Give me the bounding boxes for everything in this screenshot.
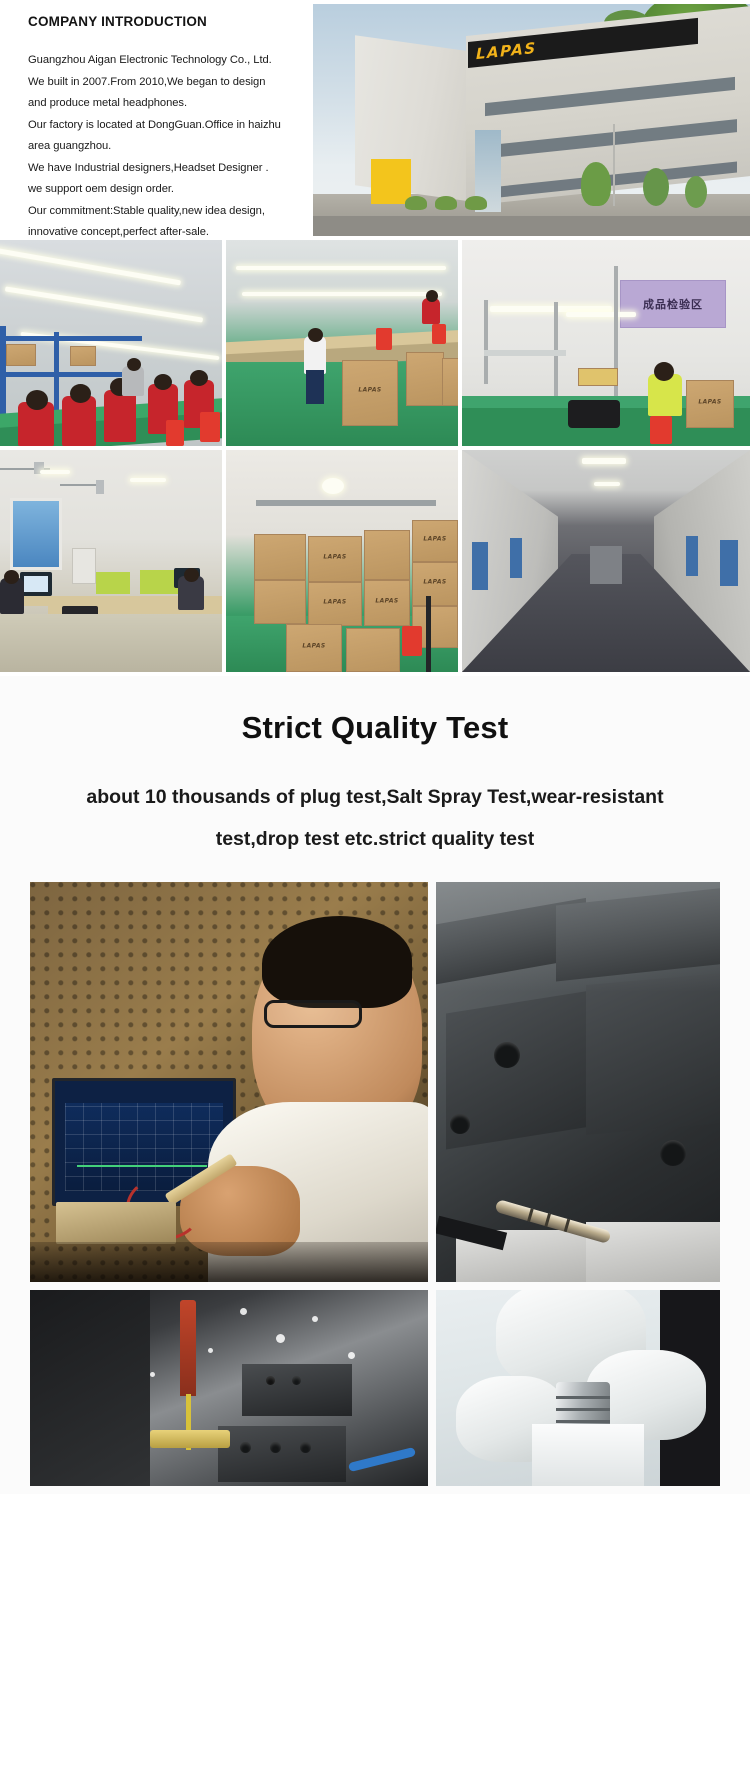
quality-test-gallery xyxy=(0,882,750,1486)
photo-engineer-testing xyxy=(30,882,428,1282)
gallery-row-2: LAPAS LAPAS LAPAS LAPAS LAPAS xyxy=(0,450,750,672)
photo-gloved-hands xyxy=(436,1290,720,1486)
carton-logo: LAPAS xyxy=(323,554,346,561)
quality-gallery-row-2 xyxy=(30,1290,720,1486)
factory-photo-gallery: LAPAS 成品检验区 xyxy=(0,240,750,672)
building-sign-text: LAPAS xyxy=(476,38,537,64)
intro-line: Our commitment:Stable quality,new idea d… xyxy=(28,201,302,223)
gallery-row-1: LAPAS 成品检验区 xyxy=(0,240,750,446)
company-introduction-section: COMPANY INTRODUCTION Guangzhou Aigan Ele… xyxy=(0,0,750,240)
carton-logo: LAPAS xyxy=(323,599,346,606)
product-detail-page: COMPANY INTRODUCTION Guangzhou Aigan Ele… xyxy=(0,0,750,1566)
inspection-area-sign-text: 成品检验区 xyxy=(643,296,703,312)
carton-logo: LAPAS xyxy=(358,387,381,394)
quality-gallery-row-1 xyxy=(30,882,720,1282)
intro-line: and produce metal headphones. xyxy=(28,93,302,115)
company-introduction-text: COMPANY INTRODUCTION Guangzhou Aigan Ele… xyxy=(0,0,312,240)
intro-line: Guangzhou Aigan Electronic Technology Co… xyxy=(28,50,302,72)
intro-line: area guangzhou. xyxy=(28,136,302,158)
photo-office-room xyxy=(0,450,222,672)
photo-workshop-benches: LAPAS xyxy=(226,240,458,446)
photo-assembly-line xyxy=(0,240,222,446)
quality-test-subtitle: about 10 thousands of plug test,Salt Spr… xyxy=(85,776,665,860)
factory-building-photo: LAPAS xyxy=(313,4,750,236)
carton-logo: LAPAS xyxy=(302,643,325,650)
quality-test-title: Strict Quality Test xyxy=(0,710,750,746)
page-bottom-spacer xyxy=(0,1494,750,1566)
photo-inspection-area: 成品检验区 LAPAS xyxy=(462,240,750,446)
intro-line: Our factory is located at DongGuan.Offic… xyxy=(28,115,302,137)
photo-warehouse-boxes: LAPAS LAPAS LAPAS LAPAS LAPAS xyxy=(226,450,458,672)
photo-corridor xyxy=(462,450,750,672)
carton-logo: LAPAS xyxy=(423,579,446,586)
company-description: Guangzhou Aigan Electronic Technology Co… xyxy=(28,50,302,244)
carton-logo: LAPAS xyxy=(375,598,398,605)
quality-test-section: Strict Quality Test about 10 thousands o… xyxy=(0,676,750,1566)
photo-cnc-drilling xyxy=(30,1290,428,1486)
intro-line: We have Industrial designers,Headset Des… xyxy=(28,158,302,180)
page-title: COMPANY INTRODUCTION xyxy=(28,14,302,29)
carton-logo: LAPAS xyxy=(698,399,721,406)
inspection-area-sign: 成品检验区 xyxy=(620,280,726,328)
photo-plug-macro xyxy=(436,882,720,1282)
carton-logo: LAPAS xyxy=(423,536,446,543)
intro-line: we support oem design order. xyxy=(28,179,302,201)
intro-line: We built in 2007.From 2010,We began to d… xyxy=(28,72,302,94)
